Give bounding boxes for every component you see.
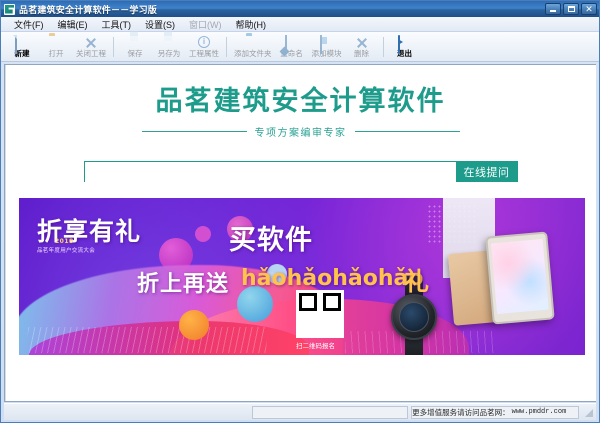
banner-sub-slogan: 品茗年度用户交流大会 (37, 246, 95, 254)
qr-code-icon[interactable] (296, 290, 344, 338)
left-edge-divider (5, 65, 6, 401)
title-bar: 品茗建筑安全计算软件－－学习版 ✕ (1, 1, 599, 17)
hero-subtitle-row: 专项方案编审专家 (5, 124, 596, 139)
toolbar-delete-label: 删除 (354, 50, 369, 58)
toolbar-project-properties-button[interactable]: i 工程属性 (186, 33, 222, 61)
app-logo-icon (4, 4, 15, 15)
menu-settings[interactable]: 设置(S) (138, 17, 182, 32)
qr-caption: 扫二维码报名 (296, 340, 335, 350)
resize-grip[interactable] (582, 406, 594, 418)
project-properties-icon: i (197, 36, 211, 49)
decor-circle-orange (179, 310, 209, 340)
open-folder-icon (49, 36, 63, 49)
rename-icon (285, 36, 299, 49)
hero-section: 品茗建筑安全计算软件 专项方案编审专家 (5, 65, 596, 139)
add-module-icon (320, 36, 334, 49)
decor-line-fan-left (26, 327, 269, 353)
menu-file[interactable]: 文件(F) (7, 17, 51, 32)
toolbar-close-project-label: 关闭工程 (76, 50, 106, 58)
promo-banner[interactable]: 折享有礼 2018 品茗年度用户交流大会 买软件 折上再送 hǎohǎohǎoh… (19, 198, 585, 355)
decor-circle-small-pink (195, 226, 211, 242)
window-controls: ✕ (545, 3, 597, 15)
toolbar-separator-3 (383, 37, 384, 57)
toolbar-open-label: 打开 (49, 50, 64, 58)
search-input-wrapper[interactable] (84, 161, 456, 182)
toolbar-separator-2 (226, 37, 227, 57)
smartwatch-image (391, 294, 437, 340)
banner-line2-left: 折上再送 (137, 266, 229, 298)
page-title: 品茗建筑安全计算软件 (5, 87, 596, 117)
toolbar-add-folder-button[interactable]: 添加文件夹 (231, 33, 275, 61)
rule-left (142, 131, 247, 132)
delete-icon (355, 36, 369, 49)
toolbar-exit-button[interactable]: 退出 (388, 33, 422, 61)
status-note-text: 更多增值服务请访问品茗网： (412, 407, 510, 418)
toolbar-new-button[interactable]: 新建 (5, 33, 39, 61)
banner-line2-end: 礼 (404, 262, 429, 298)
search-row: 在线提问 (5, 161, 596, 182)
add-folder-icon (246, 36, 260, 49)
toolbar-project-properties-label: 工程属性 (189, 50, 219, 58)
toolbar: 新建 打开 关闭工程 保存 另存为 i 工程属性 添加文件夹 (1, 32, 599, 62)
close-project-icon (84, 36, 98, 49)
status-pane-2 (252, 406, 409, 419)
menu-bar: 文件(F) 编辑(E) 工具(T) 设置(S) 窗口(W) 帮助(H) (1, 17, 599, 32)
save-icon (128, 36, 142, 49)
close-button[interactable]: ✕ (581, 3, 597, 15)
toolbar-save-as-label: 另存为 (158, 50, 181, 58)
toolbar-add-module-button[interactable]: 添加模块 (309, 33, 345, 61)
toolbar-add-module-label: 添加模块 (312, 50, 342, 58)
window-title: 品茗建筑安全计算软件－－学习版 (19, 3, 157, 16)
promo-banner-wrapper: 折享有礼 2018 品茗年度用户交流大会 买软件 折上再送 hǎohǎohǎoh… (5, 182, 596, 355)
menu-window: 窗口(W) (182, 17, 229, 32)
ask-online-button[interactable]: 在线提问 (456, 161, 518, 182)
save-as-icon (162, 36, 176, 49)
application-window: 品茗建筑安全计算软件－－学习版 ✕ 文件(F) 编辑(E) 工具(T) 设置(S… (0, 0, 600, 423)
maximize-button[interactable] (563, 3, 579, 15)
toolbar-save-label: 保存 (128, 50, 143, 58)
toolbar-open-button[interactable]: 打开 (39, 33, 73, 61)
status-pane-1 (4, 406, 249, 419)
minimize-button[interactable] (545, 3, 561, 15)
decor-circle-blue (237, 286, 273, 322)
new-document-icon (15, 36, 29, 49)
page-subtitle: 专项方案编审专家 (255, 124, 347, 139)
status-url: www.pmddr.com (512, 408, 567, 416)
banner-headline-right: 买软件 (229, 218, 313, 257)
search-input[interactable] (85, 163, 456, 182)
banner-headline-left: 折享有礼 (37, 212, 141, 248)
menu-edit[interactable]: 编辑(E) (51, 17, 95, 32)
rule-right (355, 131, 460, 132)
toolbar-add-folder-label: 添加文件夹 (234, 50, 272, 58)
toolbar-rename-button[interactable]: 重命名 (275, 33, 309, 61)
toolbar-save-button[interactable]: 保存 (118, 33, 152, 61)
status-bar: 更多增值服务请访问品茗网： www.pmddr.com (4, 403, 596, 420)
banner-line2-pinyin: hǎohǎohǎohǎo (241, 266, 424, 291)
menu-tools[interactable]: 工具(T) (95, 17, 139, 32)
toolbar-save-as-button[interactable]: 另存为 (152, 33, 186, 61)
menu-help[interactable]: 帮助(H) (229, 17, 274, 32)
welcome-page: 品茗建筑安全计算软件 专项方案编审专家 在线提问 (4, 64, 596, 402)
status-note: 更多增值服务请访问品茗网： www.pmddr.com (411, 406, 579, 419)
banner-year-badge: 2018 (55, 238, 74, 245)
tablet-image (485, 231, 554, 324)
tablet-screen (491, 239, 549, 314)
exit-icon (398, 36, 412, 49)
toolbar-delete-button[interactable]: 删除 (345, 33, 379, 61)
toolbar-separator (113, 37, 114, 57)
toolbar-close-project-button[interactable]: 关闭工程 (73, 33, 109, 61)
